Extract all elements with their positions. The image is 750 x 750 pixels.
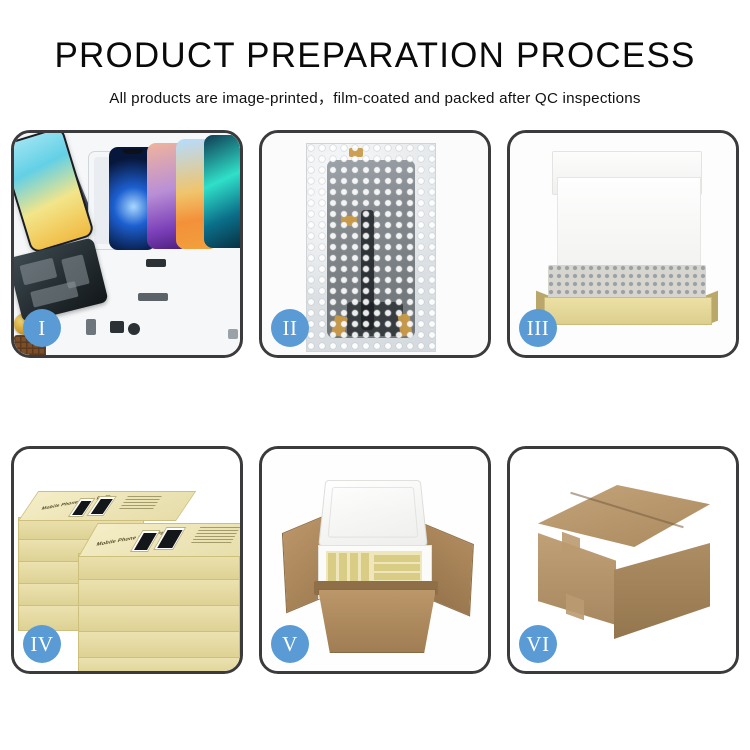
step-badge-6: VI <box>519 625 557 663</box>
small-part-b <box>138 293 168 301</box>
box-front-wall <box>544 297 712 325</box>
stack-box-f4 <box>78 631 240 659</box>
step-badge-3: III <box>519 309 557 347</box>
small-part-a <box>146 259 166 267</box>
page-subtitle: All products are image-printed，film-coat… <box>0 86 750 108</box>
panel-step-5[interactable]: V <box>259 446 491 674</box>
process-panel-grid: I II III <box>11 130 739 674</box>
page-header: PRODUCT PREPARATION PROCESS All products… <box>0 0 750 108</box>
stack-top-front: Mobile Phone Spare Parts <box>78 523 240 557</box>
carton-body <box>318 589 436 653</box>
panel-step-3[interactable]: III <box>507 130 739 358</box>
carton-right-face <box>614 543 710 639</box>
stack-top-rear: Mobile Phone Spare Parts <box>18 491 196 521</box>
notch-icon <box>122 149 144 154</box>
page-title: PRODUCT PREPARATION PROCESS <box>0 38 750 73</box>
step-badge-1: I <box>23 309 61 347</box>
box-spec-lines-front <box>190 527 240 545</box>
stack-box-f5 <box>78 657 240 671</box>
bubble-wrap-bag <box>306 143 436 352</box>
foam-sheet <box>557 177 701 271</box>
stack-box-f3 <box>78 605 240 633</box>
small-part-e <box>128 323 140 335</box>
box-spec-lines-rear <box>118 496 162 511</box>
panel-step-1[interactable]: I <box>11 130 243 358</box>
panel-step-2[interactable]: II <box>259 130 491 358</box>
step-badge-2: II <box>271 309 309 347</box>
step-badge-5: V <box>271 625 309 663</box>
foam-lid <box>318 480 428 546</box>
panel-step-4[interactable]: Mobile Phone Spare Parts Mobile Phone Sp… <box>11 446 243 674</box>
phone-display-teal <box>204 135 240 248</box>
stack-box-f2 <box>78 579 240 607</box>
bubble-texture <box>307 144 435 351</box>
small-part-c <box>86 319 96 335</box>
small-part-f <box>228 329 238 339</box>
phone-back-housing <box>14 237 109 322</box>
stack-box-f1 <box>78 553 240 581</box>
bubble-tray <box>548 265 706 301</box>
panel-step-6[interactable]: VI <box>507 446 739 674</box>
step-badge-4: IV <box>23 625 61 663</box>
small-part-d <box>110 321 124 333</box>
